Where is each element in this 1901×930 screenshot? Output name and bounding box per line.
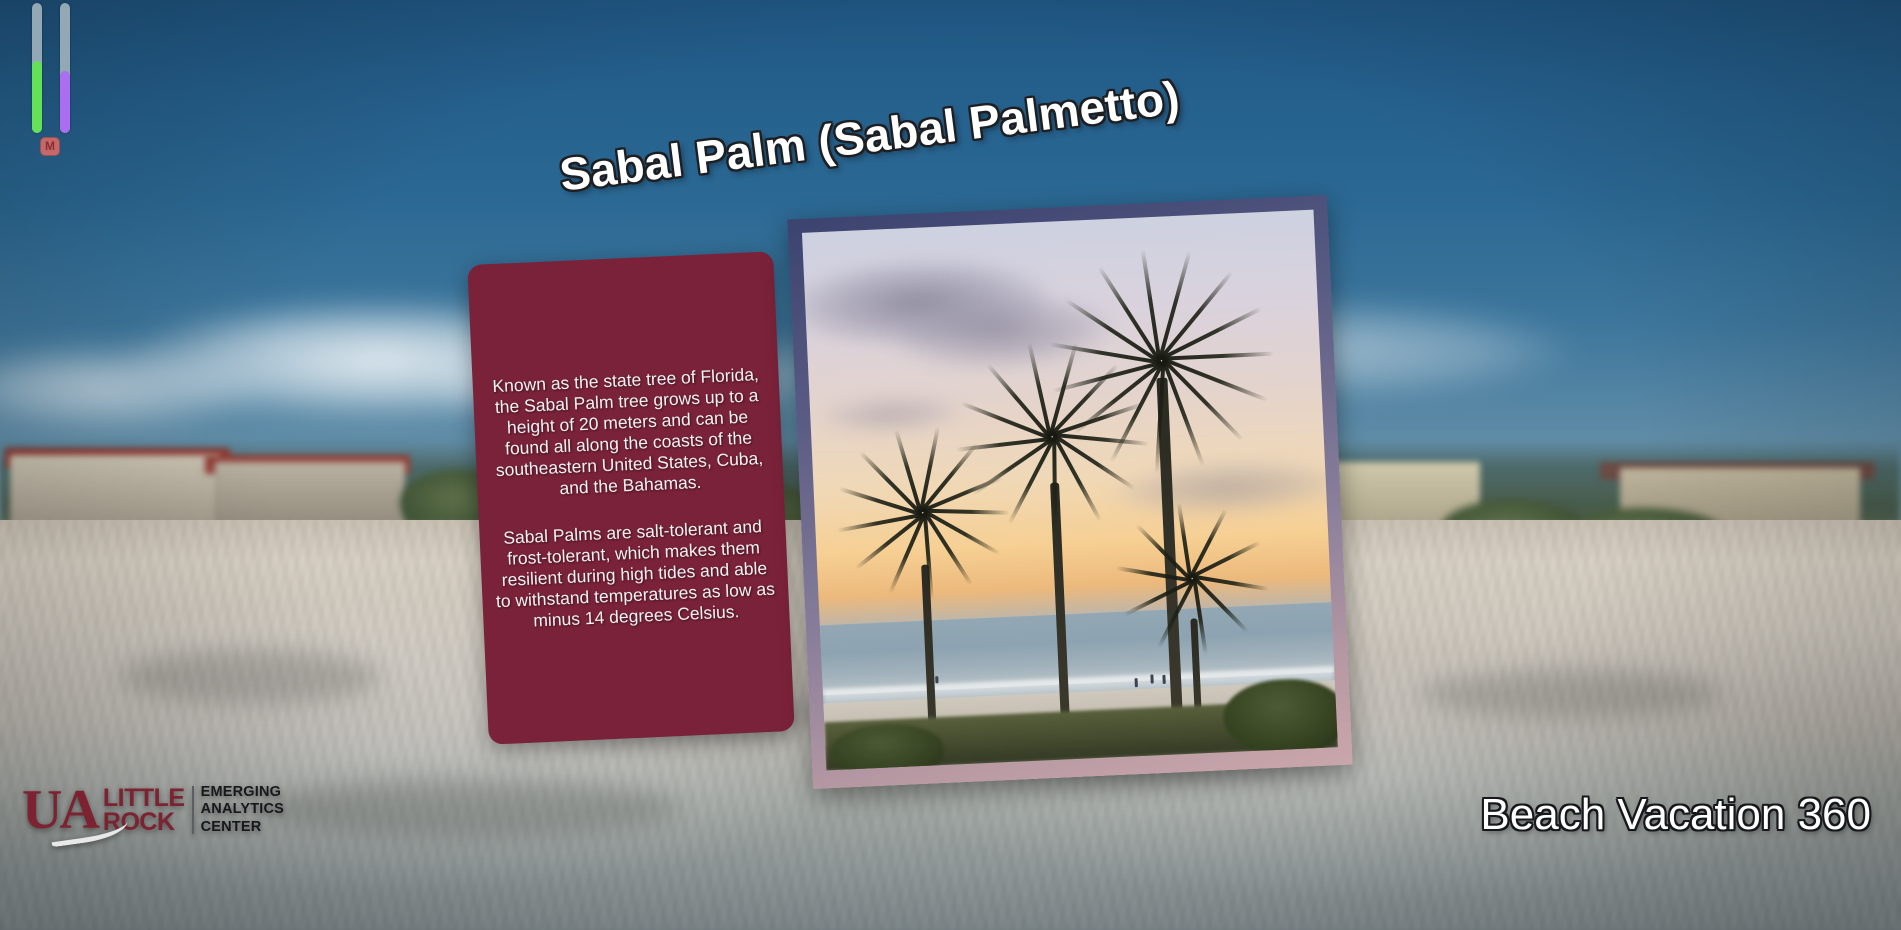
- experience-title: Beach Vacation 360: [1480, 790, 1871, 840]
- green-slider-fill: [32, 61, 42, 133]
- sand-shadow: [120, 650, 380, 704]
- green-slider[interactable]: [32, 3, 42, 133]
- sand-shadow: [1420, 670, 1720, 718]
- logo-eac-line2: ANALYTICS: [201, 801, 284, 819]
- logo-little-rock-text: LITTLE ROCK: [103, 786, 194, 834]
- palm-tree-photo: [802, 210, 1338, 771]
- info-paragraph-1: Known as the state tree of Florida, the …: [484, 363, 771, 502]
- sand-shadow: [260, 780, 680, 836]
- mode-badge[interactable]: M: [40, 137, 60, 156]
- logo-ua-text: UA: [22, 782, 97, 838]
- purple-slider-fill: [60, 71, 70, 133]
- palm-tree: [832, 428, 1020, 737]
- purple-slider[interactable]: [60, 3, 70, 133]
- vr-controller-panel[interactable]: M: [28, 0, 98, 190]
- image-frame: [787, 195, 1352, 789]
- photo-cloud: [820, 393, 965, 437]
- logo-little-text: LITTLE: [103, 786, 185, 810]
- logo-rock-text: ROCK: [103, 810, 185, 834]
- info-paragraph-2: Sabal Palms are salt-tolerant and frost-…: [491, 515, 777, 633]
- logo-emerging-analytics-center-text: EMERGING ANALYTICS CENTER: [201, 784, 284, 837]
- info-panel: Known as the state tree of Florida, the …: [467, 251, 794, 744]
- ua-little-rock-logo: UA LITTLE ROCK EMERGING ANALYTICS CENTER: [22, 782, 284, 838]
- logo-eac-line3: CENTER: [201, 819, 284, 837]
- vr-scene: M Sabal Palm (Sabal Palmetto) Known as t…: [0, 0, 1901, 930]
- logo-eac-line1: EMERGING: [201, 784, 284, 802]
